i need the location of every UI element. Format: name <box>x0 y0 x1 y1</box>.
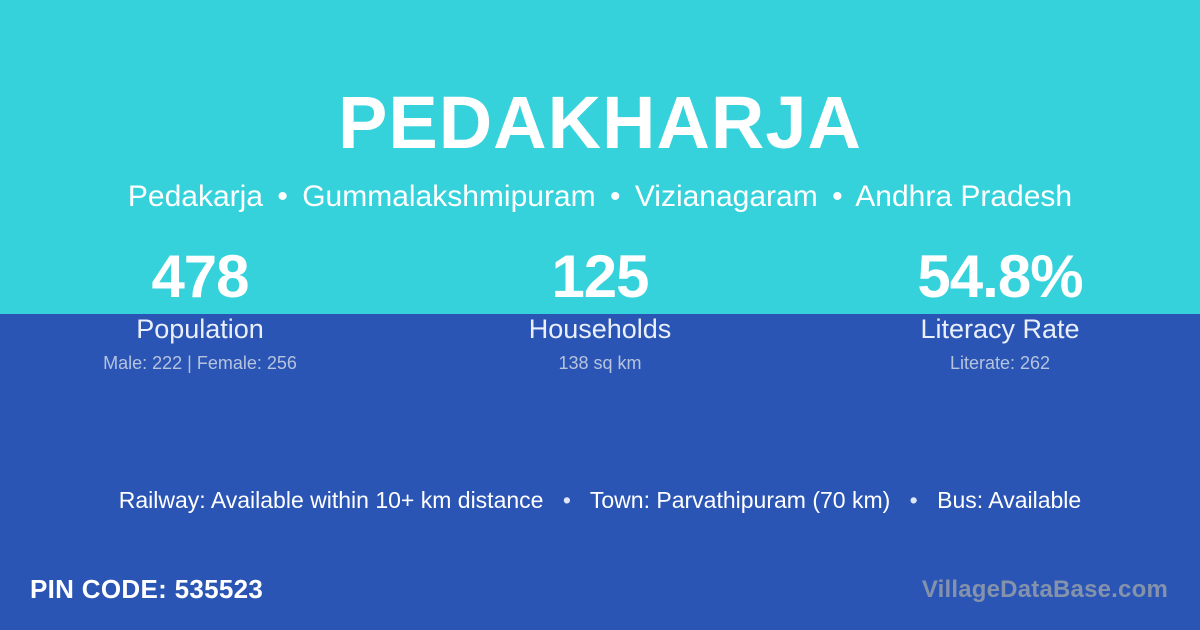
stat-households: 125 Households 138 sq km <box>400 246 800 373</box>
stat-value: 478 <box>0 246 400 308</box>
breadcrumb-item-block: Gummalakshmipuram <box>302 180 595 213</box>
facilities-row: Railway: Available within 10+ km distanc… <box>0 484 1200 516</box>
bullet-separator-icon: • <box>271 182 294 212</box>
stat-value: 54.8% <box>800 246 1200 308</box>
stat-literacy-rate: 54.8% Literacy Rate Literate: 262 <box>800 246 1200 373</box>
card-footer: PIN CODE: 535523 VillageDataBase.com <box>0 570 1200 630</box>
stat-sublabel: Male: 222 | Female: 256 <box>0 353 400 373</box>
breadcrumb: Pedakarja • Gummalakshmipuram • Vizianag… <box>0 182 1200 212</box>
card-header: PEDAKHARJA Pedakarja • Gummalakshmipuram… <box>0 0 1200 212</box>
stat-label: Households <box>400 314 800 344</box>
bullet-separator-icon: • <box>604 182 627 212</box>
breadcrumb-item-state: Andhra Pradesh <box>855 180 1072 213</box>
bullet-separator-icon: • <box>897 484 931 516</box>
facility-bus: Bus: Available <box>937 487 1081 513</box>
stat-sublabel: 138 sq km <box>400 353 800 373</box>
stat-label: Population <box>0 314 400 344</box>
site-watermark: VillageDataBase.com <box>922 575 1168 605</box>
stat-label: Literacy Rate <box>800 314 1200 344</box>
breadcrumb-item-district: Vizianagaram <box>635 180 818 213</box>
breadcrumb-item-village: Pedakarja <box>128 180 263 213</box>
pin-code-label: PIN CODE: 535523 <box>30 573 263 605</box>
stats-row: 478 Population Male: 222 | Female: 256 1… <box>0 246 1200 373</box>
bullet-separator-icon: • <box>826 182 849 212</box>
bullet-separator-icon: • <box>550 484 584 516</box>
village-info-card: PEDAKHARJA Pedakarja • Gummalakshmipuram… <box>0 0 1200 630</box>
page-title: PEDAKHARJA <box>0 86 1200 160</box>
facility-town: Town: Parvathipuram (70 km) <box>590 487 890 513</box>
facility-railway: Railway: Available within 10+ km distanc… <box>119 487 544 513</box>
stat-sublabel: Literate: 262 <box>800 353 1200 373</box>
stat-value: 125 <box>400 246 800 308</box>
stat-population: 478 Population Male: 222 | Female: 256 <box>0 246 400 373</box>
